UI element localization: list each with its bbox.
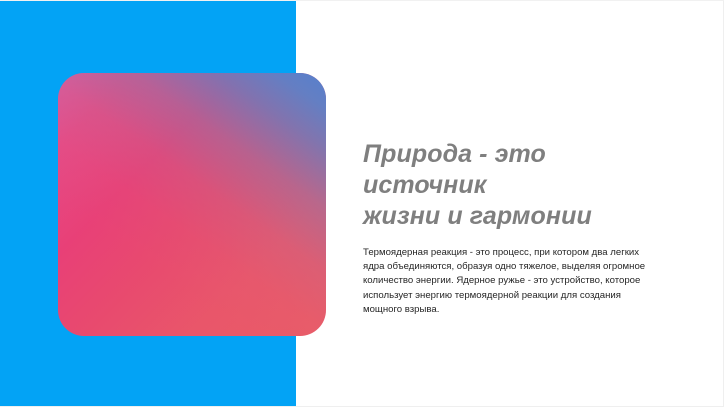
- slide-title[interactable]: Природа - это источник жизни и гармонии: [363, 139, 653, 232]
- text-content-column: Природа - это источник жизни и гармонии …: [363, 139, 653, 317]
- slide-canvas: Природа - это источник жизни и гармонии …: [0, 0, 724, 407]
- slide-body-text[interactable]: Термоядерная реакция - это процесс, при …: [363, 232, 653, 317]
- gradient-image-block[interactable]: [58, 73, 326, 336]
